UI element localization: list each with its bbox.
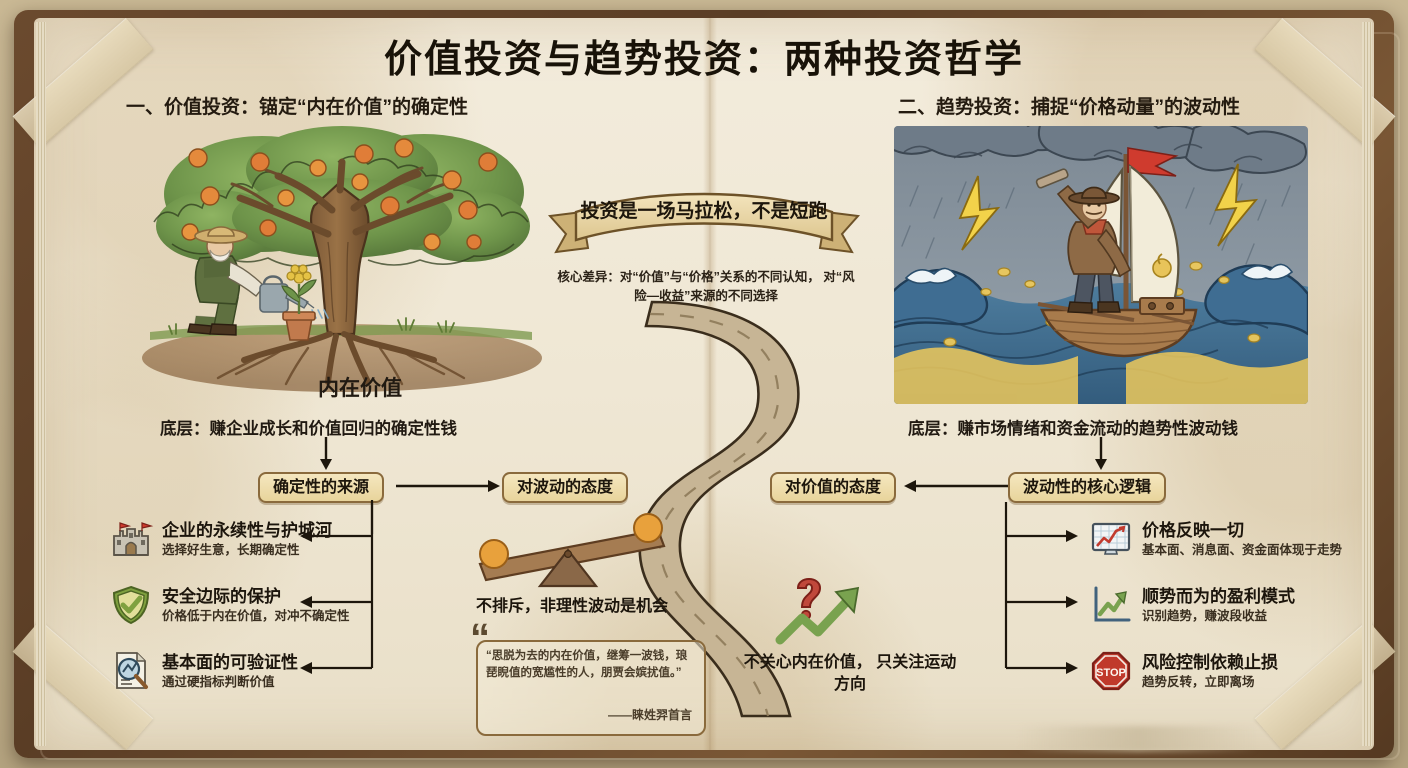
- pill-attitude-to-value[interactable]: 对价值的态度: [770, 472, 896, 503]
- stormy-sea-sailboat-illustration: [894, 126, 1308, 404]
- seesaw-caption: 不排斥，非理性波动是机会: [452, 592, 692, 616]
- banner-text: 投资是一场马拉松，不是短跑: [548, 196, 860, 223]
- bottom-layer-left: 底层：赚企业成长和价值回归的确定性钱: [160, 415, 457, 439]
- list-item-title: 基本面的可验证性: [162, 648, 298, 673]
- list-item-sub: 识别趋势，赚波段收益: [1142, 605, 1267, 624]
- section-heading-left: 一、价值投资：锚定“内在价值”的确定性: [126, 92, 468, 119]
- bracket-right-bullets: [1000, 500, 1092, 680]
- quote-text: “思脱为去的内在价值，继筹一波钱，琅琵睨值的宽尴性的人，朋贾会嫔扰值。”: [486, 648, 692, 681]
- list-item-title: 安全边际的保护: [162, 582, 281, 607]
- list-item-sub: 基本面、消息面、资金面体现于走势: [1142, 539, 1342, 558]
- list-item-title: 顺势而为的盈利模式: [1142, 582, 1295, 607]
- question-mark-icon: [798, 579, 820, 607]
- list-item-sub: 价格低于内在价值，对冲不确定性: [162, 605, 350, 624]
- chart-monitor-icon: [1090, 518, 1132, 560]
- stop-sign-icon: STOP: [1090, 650, 1132, 692]
- page-edge-left: [36, 22, 46, 746]
- list-item-title: 价格反映一切: [1142, 516, 1244, 541]
- seesaw-illustration: [462, 520, 682, 592]
- pill-attitude-to-volatility[interactable]: 对波动的态度: [502, 472, 628, 503]
- infographic-page: 价值投资与趋势投资：两种投资哲学 一、价值投资：锚定“内在价值”的确定性 二、趋…: [0, 0, 1408, 768]
- castle-icon: [110, 518, 152, 560]
- page-title: 价值投资与趋势投资：两种投资哲学: [0, 28, 1408, 83]
- list-item-title: 企业的永续性与护城河: [162, 516, 332, 541]
- pill-certainty-source[interactable]: 确定性的来源: [258, 472, 384, 503]
- quote-attribution: ——睐姓羿首言: [486, 706, 692, 723]
- watermark: [1018, 726, 1258, 752]
- section-heading-right: 二、趋势投资：捕捉“价格动量”的波动性: [898, 92, 1240, 119]
- list-item-title: 风险控制依赖止损: [1142, 648, 1278, 673]
- trend-up-arrow-icon: [1090, 584, 1132, 626]
- shield-check-icon: [110, 584, 152, 626]
- list-item-sub: 通过硬指标判断价值: [162, 671, 275, 690]
- page-edge-right: [1362, 22, 1372, 746]
- arrow-down-left: [318, 437, 334, 471]
- arrow-right-to-center: [898, 478, 1008, 494]
- list-item-sub: 趋势反转，立即离场: [1142, 671, 1255, 690]
- document-magnifier-icon: [110, 650, 152, 692]
- bottom-layer-right: 底层：赚市场情绪和资金流动的趋势性波动钱: [908, 415, 1238, 439]
- pill-volatility-core-logic[interactable]: 波动性的核心逻辑: [1008, 472, 1166, 503]
- tree-caption: 内在价值: [150, 372, 570, 402]
- arrow-down-right: [1093, 437, 1109, 471]
- list-item-sub: 选择好生意，长期确定性: [162, 539, 300, 558]
- arrow-left-to-center: [396, 478, 504, 494]
- svg-text:STOP: STOP: [1096, 667, 1126, 679]
- question-caption: 不关心内在价值， 只关注运动方向: [740, 652, 960, 695]
- apple-tree-illustration: [132, 126, 552, 388]
- question-trend-illustration: [772, 578, 932, 652]
